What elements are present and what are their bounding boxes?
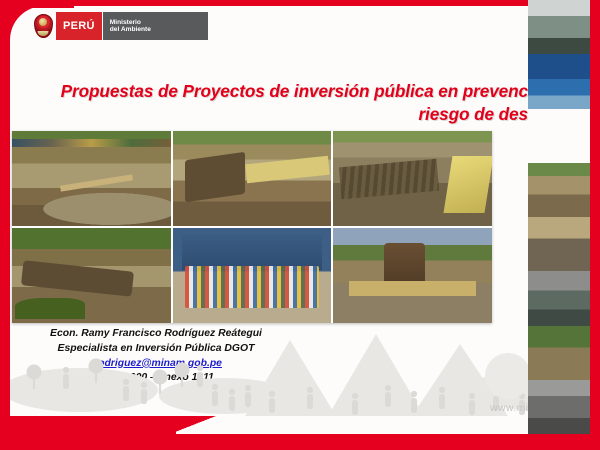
sidebar-photo-strip: Interior inundado con personas Vista aér… [528,0,590,434]
photo-collage: Carretera colapsada con pobladores en la… [12,131,492,323]
strip-photo-alt: Rescate de pobladores en bote [528,271,529,272]
footer-red-notch [0,416,176,434]
strip-photo-alt: Interior inundado con personas [528,0,529,1]
logo-country-label: PERÚ [56,12,102,40]
logo-ministry-line2: del Ambiente [110,26,198,33]
strip-photo: Camión en zona afectada, blanco y negro [528,380,590,434]
strip-photo: Viviendas rurales inundadas [528,326,590,380]
strip-photo: Rescate de pobladores en bote [528,271,590,325]
collage-photo-alt: Terreno agrietado junto a baranda amaril… [333,131,334,132]
header-red-tab [10,0,74,8]
strip-photo-alt: Separador [528,109,529,110]
collage-photo: Foto grupal de la comunidad frente a ban… [173,228,332,323]
logo-ministry-block: Ministerio del Ambiente [102,12,208,40]
logo-ministry-line1: Ministerio [110,19,198,26]
footer-red-diagonal [170,416,216,434]
collage-photo-alt: Foto grupal de la comunidad frente a ban… [173,228,174,229]
strip-photo: Vista aérea de inundación [528,54,590,108]
collage-photo: Camión y escombros en el río desbordado [333,228,492,323]
strip-photo-alt: Casa afectada por el agua [528,217,529,218]
strip-photo: Interior inundado con personas [528,0,590,54]
collage-photo-alt: Carretera colapsada con pobladores en la… [12,131,13,132]
strip-photo: Río desbordado sobre vegetación [528,163,590,217]
presenter-email-link[interactable]: rrodriguez@minam.gob.pe [22,357,290,372]
presenter-phone: 01 616000 – anexo 1311 [22,371,290,386]
strip-photo-alt: Viviendas rurales inundadas [528,326,529,327]
strip-photo-alt: Vista aérea de inundación [528,54,529,55]
strip-photo: Casa afectada por el agua [528,217,590,271]
collage-photo: Terreno agrietado junto a baranda amaril… [333,131,492,226]
slide: PERÚ Ministerio del Ambiente Propuestas … [0,0,600,450]
ministry-logo: PERÚ Ministerio del Ambiente [30,12,208,40]
collage-photo-alt: Hombre sobre losa de concreto destruida [173,131,174,132]
slide-title: Propuestas de Proyectos de inversión púb… [22,80,578,125]
presenter-role: Especialista en Inversión Pública DGOT [22,342,290,357]
strip-photo-alt: Camión en zona afectada, blanco y negro [528,380,529,381]
footer-red-band [0,434,600,450]
collage-photo: Carretera colapsada con pobladores en la… [12,131,171,226]
collage-photo-alt: Camión y escombros en el río desbordado [333,228,334,229]
collage-photo: Talud erosionado por el río [12,228,171,323]
collage-photo-alt: Talud erosionado por el río [12,228,13,229]
collage-photo: Hombre sobre losa de concreto destruida [173,131,332,226]
strip-photo: Separador [528,109,590,163]
peru-coat-of-arms-icon [30,12,56,40]
presenter-name: Econ. Ramy Francisco Rodríguez Reátegui [22,327,290,342]
strip-photo-alt: Río desbordado sobre vegetación [528,163,529,164]
presenter-block: Econ. Ramy Francisco Rodríguez Reátegui … [22,327,290,386]
